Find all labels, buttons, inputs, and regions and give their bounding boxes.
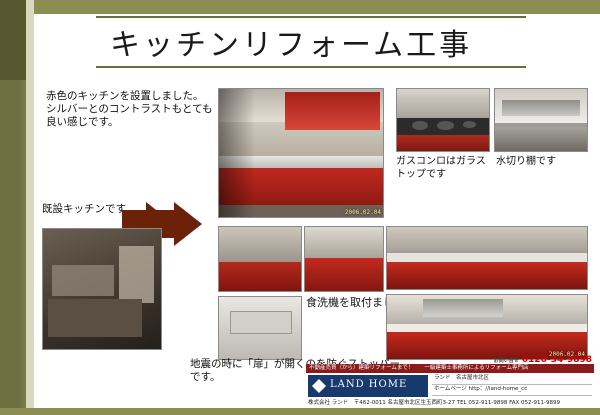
top-decoration-band: [34, 0, 600, 14]
title-block: キッチンリフォーム工事: [96, 16, 526, 68]
diamond-logo-icon: [312, 379, 326, 393]
footer-phone-label: お問い合せ: [494, 358, 519, 364]
photo-long-counter: [386, 226, 588, 290]
photo-region-range-hood: [423, 299, 503, 317]
company-logo-text: LAND HOME: [330, 379, 407, 390]
footer-row-brand: ランド 名古屋市北区: [432, 374, 592, 385]
photo-region-red-cabinets: [387, 262, 587, 289]
photo-region-old-upper: [52, 265, 113, 296]
footer-address: 株式会社 ランド 〒462-0011 名古屋市北区生玉西町3-27 TEL 05…: [308, 398, 592, 406]
footer-phone: お問い合せ 0120-34-9898: [494, 355, 592, 365]
slide-root: キッチンリフォーム工事 赤色のキッチンを設置しました。 シルバーとのコントラスト…: [0, 0, 600, 415]
photo-region-wall: [387, 227, 587, 253]
main-note-text: 赤色のキッチンを設置しました。 シルバーとのコントラストもとても良い感じです。: [46, 90, 222, 129]
stove-note-text: ガスコンロはガラストップです: [396, 156, 488, 181]
photo-region-old-window: [119, 246, 154, 304]
existing-kitchen-label: 既設キッチンです: [42, 203, 126, 216]
photo-region-red-panel: [397, 135, 489, 151]
photo-range-hood-wide: 2006.02.04: [386, 294, 588, 360]
burner-left-icon: [412, 121, 429, 130]
company-footer: 不動産売買（から）建築リフォームまで！ 一級建築士事務所によるリフォーム専門店 …: [306, 364, 594, 408]
photo-timestamp: 2006.02.04: [345, 209, 381, 216]
bottom-decoration-band: [0, 408, 600, 415]
photo-region-countertop: [387, 324, 587, 332]
photo-region-door: [230, 311, 291, 334]
footer-banner: 不動産売買（から）建築リフォームまで！ 一級建築士事務所によるリフォーム専門店: [306, 364, 594, 373]
title-rule-top: [96, 16, 526, 18]
footer-row-homepage[interactable]: ホームページ http：//land-home_cc: [432, 385, 592, 396]
photo-gas-stove: [396, 88, 490, 152]
footer-contact-rows: ランド 名古屋市北区 ホームページ http：//land-home_cc: [432, 374, 592, 396]
photo-region-upper-cabinet: [285, 92, 380, 130]
photo-dishwasher: [218, 296, 302, 360]
left-decoration-stripe: [26, 0, 34, 415]
photo-region-sink: [495, 127, 587, 151]
burner-center-icon: [437, 121, 454, 130]
photo-region-countertop: [387, 253, 587, 262]
photo-region-shadow: [219, 89, 255, 217]
photo-region-red-front: [219, 262, 301, 291]
photo-region-hood: [397, 89, 489, 118]
photo-new-kitchen-main: 2006.02.04: [218, 88, 384, 218]
photo-sink-closeup-b: [304, 226, 384, 292]
photo-region-upper: [219, 227, 301, 262]
photo-region-shelf: [502, 100, 579, 116]
photo-region-upper: [305, 227, 383, 258]
company-logo: LAND HOME: [308, 375, 428, 397]
footer-phone-number: 0120-34-9898: [522, 355, 592, 365]
photo-region-old-counter: [48, 299, 142, 337]
photo-drain-shelf: [494, 88, 588, 152]
photo-sink-closeup-a: [218, 226, 302, 292]
hood-note-text: 水切り棚です: [496, 156, 586, 169]
page-title: キッチンリフォーム工事: [110, 20, 472, 64]
photo-region-red-front: [305, 258, 383, 291]
photo-existing-kitchen: [42, 228, 162, 350]
title-rule-bottom: [96, 66, 526, 68]
